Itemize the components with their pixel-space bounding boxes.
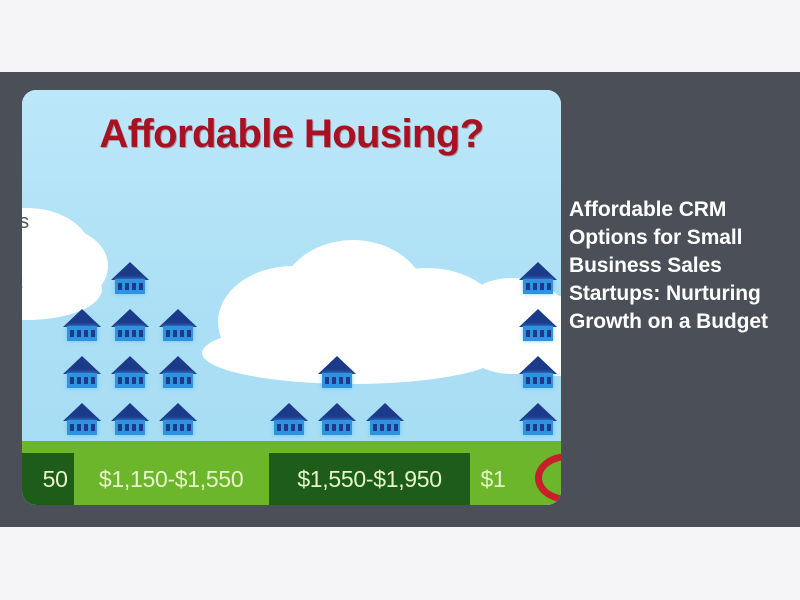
price-band: 50$1,150-$1,550$1,550-$1,950$1 <box>22 453 561 505</box>
price-band-segment: $1,550-$1,950 <box>269 453 471 505</box>
house-icon <box>111 356 149 390</box>
house-icon <box>111 309 149 343</box>
house-icon <box>519 309 557 343</box>
price-band-segment: $1,150-$1,550 <box>74 453 269 505</box>
grass-strip <box>22 441 561 453</box>
house-icon <box>111 262 149 296</box>
house-icon <box>63 309 101 343</box>
price-band-segment: 50 <box>22 453 74 505</box>
house-icon <box>519 262 557 296</box>
house-icon <box>519 403 557 437</box>
house-icon <box>318 403 356 437</box>
house-icon <box>159 356 197 390</box>
house-icon <box>159 403 197 437</box>
article-headline: Affordable CRM Options for Small Busines… <box>569 196 769 336</box>
house-icon <box>111 403 149 437</box>
house-icon <box>63 356 101 390</box>
house-icon <box>270 403 308 437</box>
house-icon <box>366 403 404 437</box>
infographic-card: Affordable Housing? jects by rent 50$1,1… <box>22 90 561 505</box>
infographic-title: Affordable Housing? <box>22 112 561 157</box>
house-icon <box>159 309 197 343</box>
house-icon <box>318 356 356 390</box>
house-icon <box>519 356 557 390</box>
house-icon <box>63 403 101 437</box>
infographic-side-caption: jects by rent <box>22 207 108 297</box>
page-root: Affordable Housing? jects by rent 50$1,1… <box>0 0 800 600</box>
